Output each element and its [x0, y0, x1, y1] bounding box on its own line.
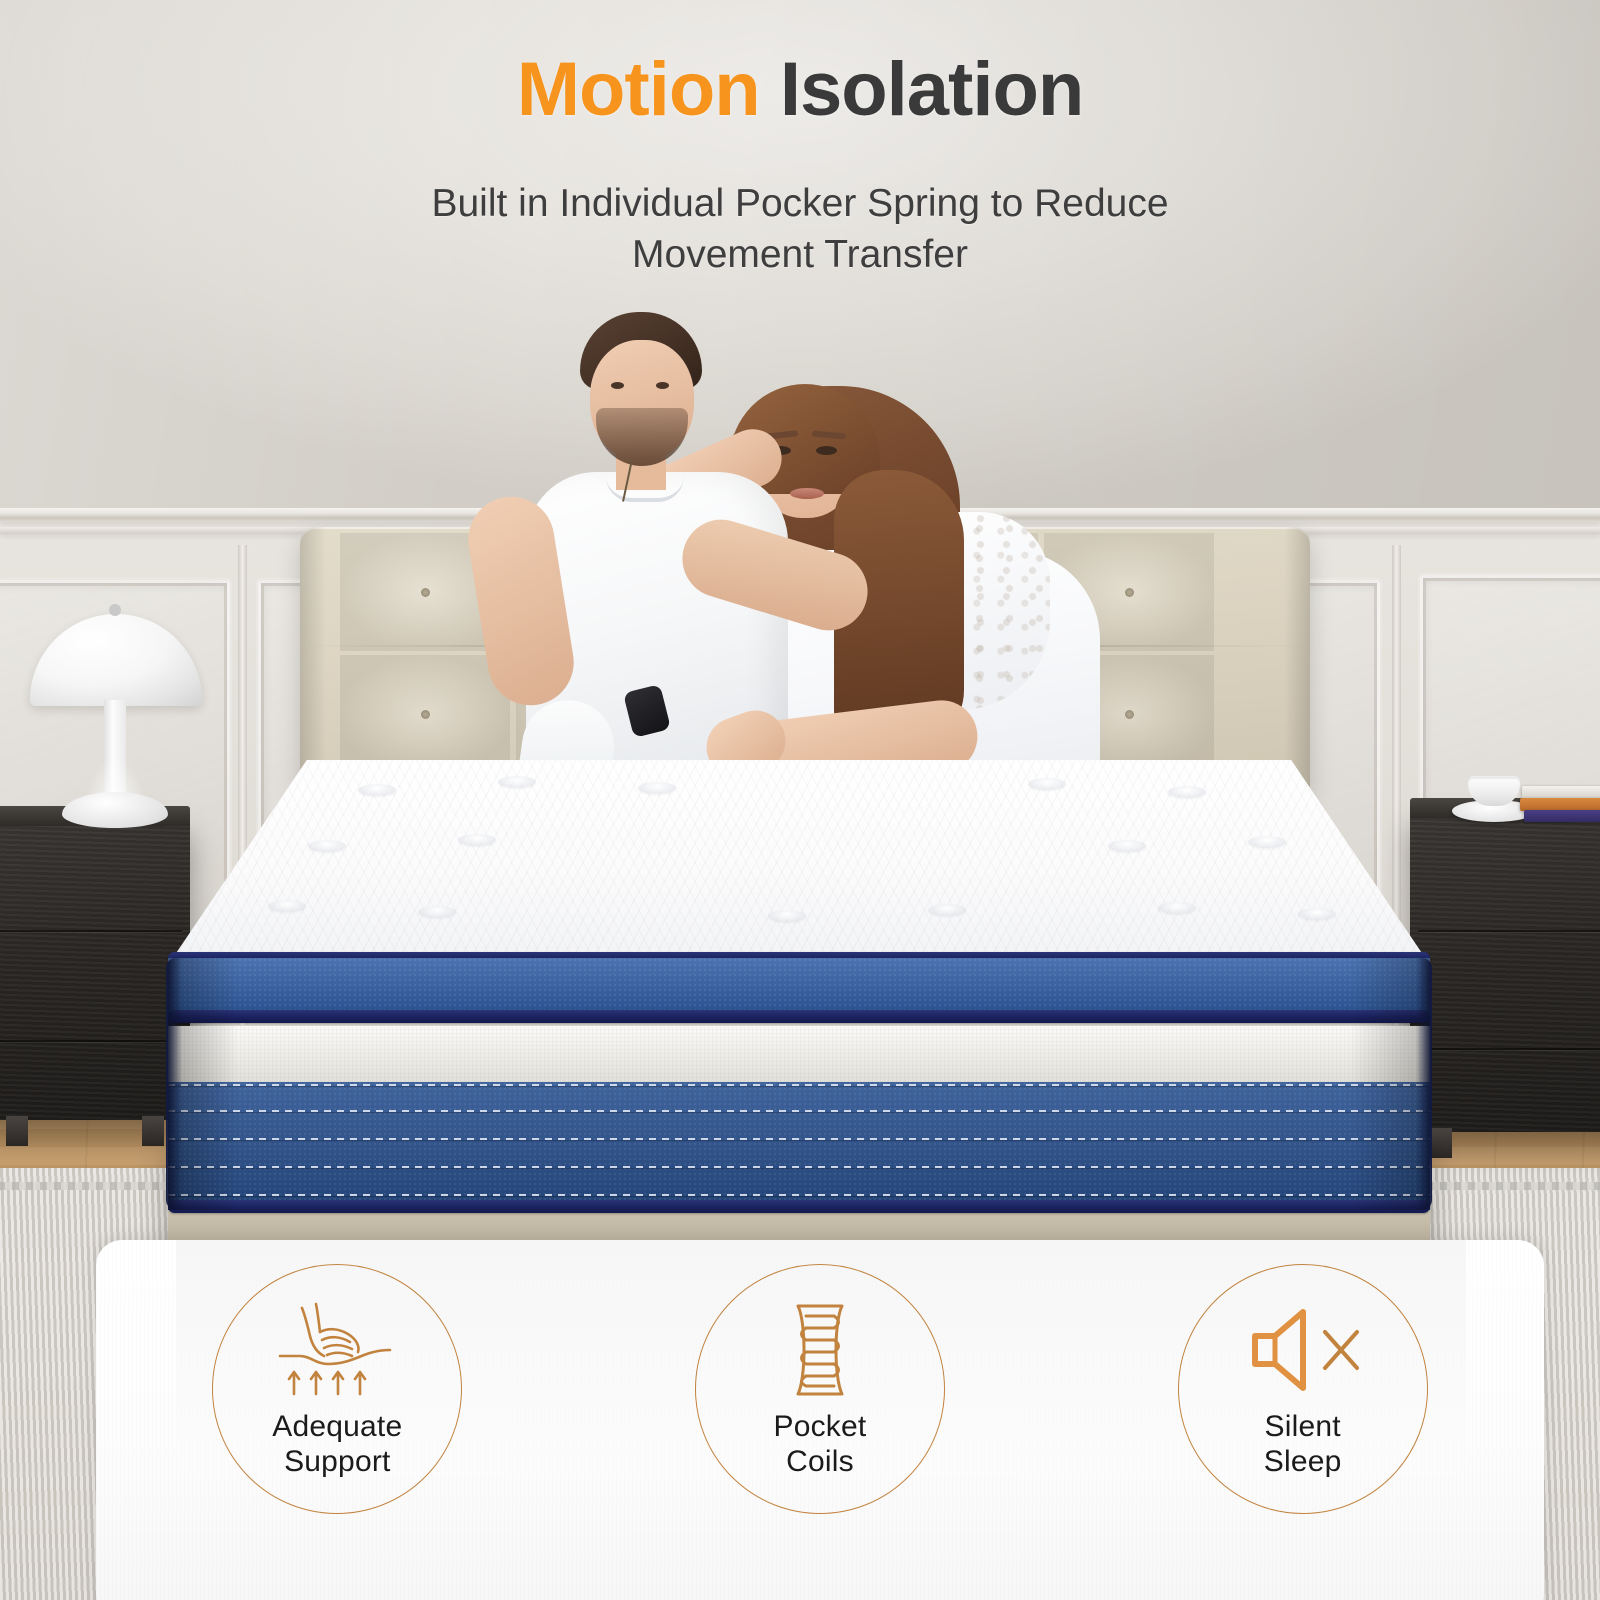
feature-badge-adequate-support[interactable]: Adequate Support — [212, 1264, 462, 1514]
nightstand-right — [1410, 812, 1600, 1132]
page-title-main: Isolation — [780, 47, 1083, 132]
mattress-mesh-band — [168, 1026, 1430, 1082]
headboard-edge — [300, 527, 326, 792]
feature-list: Adequate Support — [96, 1240, 1544, 1600]
man-beard — [596, 408, 688, 466]
feature-label-line1: Adequate — [272, 1410, 402, 1443]
hand-support-icon — [272, 1298, 402, 1402]
page-title-accent: Motion — [517, 47, 760, 132]
nightstand-left — [0, 820, 190, 1120]
nightstand-leg — [142, 1116, 164, 1146]
nightstand-drawer-seam — [1418, 1048, 1600, 1050]
feature-label-line1: Silent — [1265, 1410, 1341, 1443]
nightstand-drawer-seam — [1418, 930, 1600, 932]
woman-eye — [816, 446, 837, 455]
nightstand-leg — [6, 1116, 28, 1146]
page-subtitle-line2: Movement Transfer — [632, 233, 968, 276]
book — [1524, 810, 1600, 822]
mattress-corner-right — [1416, 958, 1432, 1210]
table-lamp-finial — [109, 604, 121, 616]
feature-badge-silent-sleep[interactable]: Silent Sleep — [1178, 1264, 1428, 1514]
feature-label-line1: Pocket — [774, 1410, 867, 1443]
feature-label-line2: Coils — [786, 1445, 854, 1478]
mattress-euro-top-band — [168, 958, 1430, 1016]
page-subtitle-line1: Built in Individual Pocker Spring to Red… — [431, 182, 1168, 225]
feature-label: Pocket Coils — [774, 1410, 867, 1480]
mattress-base-band — [168, 1082, 1430, 1210]
mattress-top-piping — [168, 760, 1430, 965]
mute-speaker-icon — [1239, 1298, 1367, 1402]
feature-label: Adequate Support — [272, 1410, 402, 1480]
page-title: Motion Isolation — [0, 50, 1600, 130]
feature-label-line2: Sleep — [1264, 1445, 1342, 1478]
feature-panel: Adequate Support — [96, 1240, 1544, 1600]
headboard-edge — [1284, 527, 1310, 792]
mattress-corner-left — [166, 958, 182, 1210]
man-eye — [611, 382, 624, 389]
feature-badge-pocket-coils[interactable]: Pocket Coils — [695, 1264, 945, 1514]
nightstand-drawer-seam — [0, 1040, 182, 1042]
feature-label: Silent Sleep — [1264, 1410, 1342, 1480]
pocket-coil-icon — [772, 1298, 868, 1402]
mattress — [168, 760, 1430, 1160]
nightstand-leg — [1430, 1128, 1452, 1158]
page-subtitle: Built in Individual Pocker Spring to Red… — [0, 178, 1600, 281]
table-lamp-base — [62, 792, 168, 828]
mattress-piping-bottom — [168, 1200, 1430, 1213]
man-eye — [656, 382, 669, 389]
feature-label-line2: Support — [284, 1445, 390, 1478]
woman-lips — [790, 488, 824, 499]
mattress-piping-mid — [168, 1010, 1430, 1023]
nightstand-drawer-seam — [0, 930, 182, 932]
